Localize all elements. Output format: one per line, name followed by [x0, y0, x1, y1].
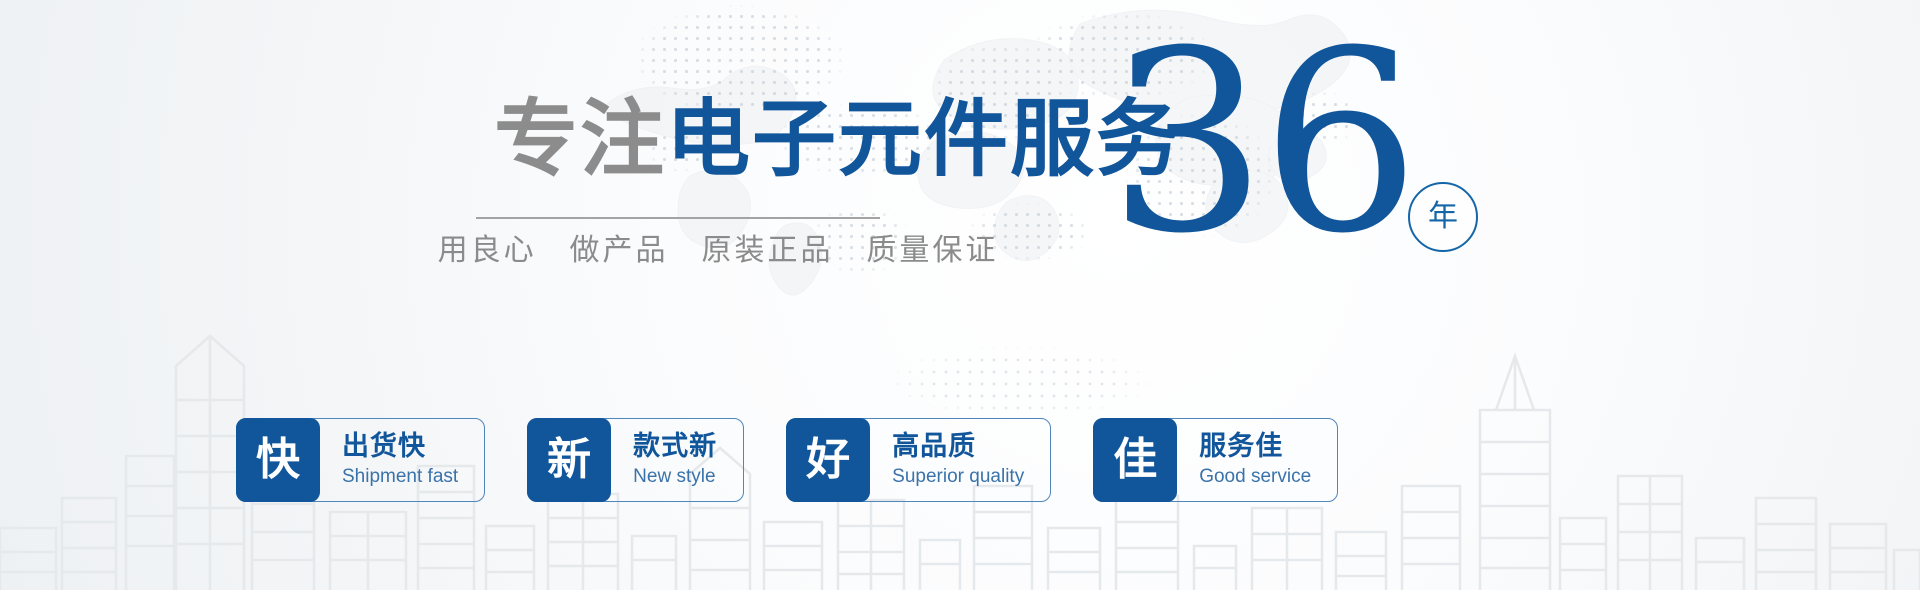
feature-card-title: 出货快: [342, 431, 458, 463]
feature-card-badge-label: 好: [806, 438, 850, 482]
subtitle: 用良心 做产品 原装正品 质量保证: [0, 225, 1920, 269]
headline-divider: [476, 217, 880, 219]
feature-card-subtitle: Good service: [1199, 465, 1311, 489]
feature-card-shipment[interactable]: 快 出货快 Shipment fast: [236, 418, 485, 502]
feature-card-text: 服务佳 Good service: [1177, 419, 1337, 501]
subtitle-segment: 原装正品: [701, 233, 833, 268]
feature-card-text: 高品质 Superior quality: [870, 419, 1050, 501]
feature-card-subtitle: Shipment fast: [342, 465, 458, 489]
promo-banner: 专注电子元件服务 36 年 用良心 做产品 原装正品 质量保证 快 出货快 Sh…: [0, 0, 1920, 590]
subtitle-segment: 用良心: [438, 233, 537, 268]
feature-card-subtitle: New style: [633, 465, 717, 489]
headline-highlight: 电子元件服务: [666, 90, 1182, 188]
feature-card-subtitle: Superior quality: [892, 465, 1024, 489]
feature-card-badge: 好: [786, 418, 870, 502]
feature-card-title: 高品质: [892, 431, 1024, 463]
feature-card-title: 服务佳: [1199, 431, 1311, 463]
feature-card-title: 款式新: [633, 431, 717, 463]
feature-card-badge-label: 佳: [1113, 438, 1157, 482]
feature-card-list: 快 出货快 Shipment fast 新 款式新 New style 好 高品…: [236, 418, 1696, 538]
feature-card-badge: 快: [236, 418, 320, 502]
feature-card-badge-label: 新: [547, 438, 591, 482]
feature-card-quality[interactable]: 好 高品质 Superior quality: [786, 418, 1051, 502]
headline: 专注电子元件服务: [0, 72, 1920, 193]
feature-card-badge: 新: [527, 418, 611, 502]
subtitle-segment: 做产品: [570, 233, 669, 268]
feature-card-text: 出货快 Shipment fast: [320, 419, 484, 501]
feature-card-new-style[interactable]: 新 款式新 New style: [527, 418, 744, 502]
feature-card-service[interactable]: 佳 服务佳 Good service: [1093, 418, 1338, 502]
headline-prefix: 专注: [494, 90, 666, 188]
feature-card-badge: 佳: [1093, 418, 1177, 502]
feature-card-text: 款式新 New style: [611, 419, 743, 501]
feature-card-badge-label: 快: [256, 438, 300, 482]
subtitle-segment: 质量保证: [866, 233, 998, 268]
